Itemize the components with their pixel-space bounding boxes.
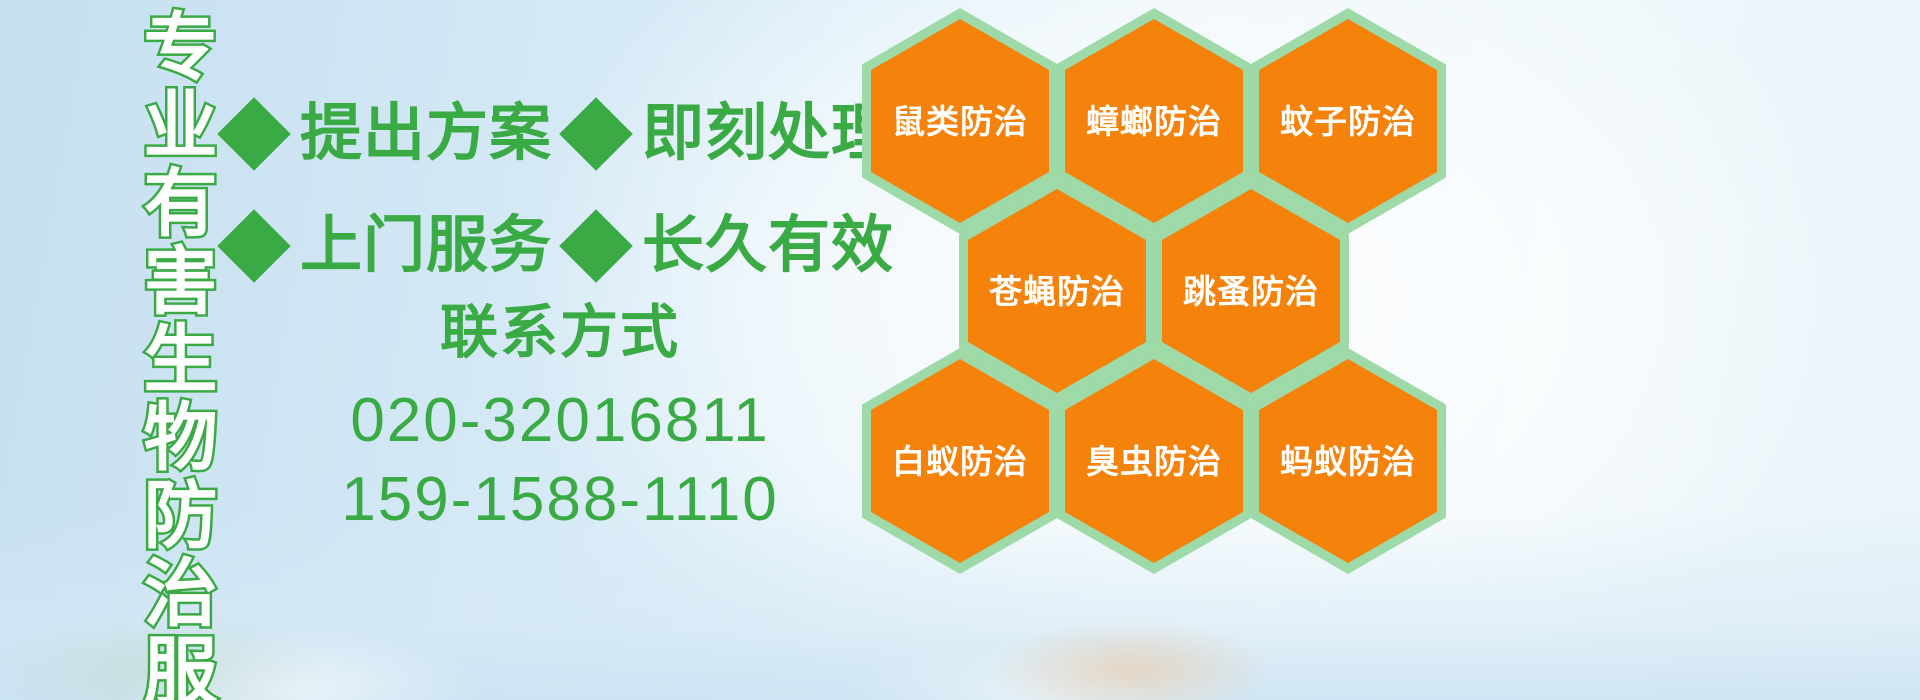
contact-heading: 联系方式 [300, 300, 820, 367]
service-hex-label: 苍蝇防治 [989, 275, 1125, 308]
background-blob-middle [980, 550, 1320, 700]
service-hex-label: 蚊子防治 [1280, 105, 1416, 138]
feature-item: 即刻处理 [570, 103, 894, 165]
service-hex-label: 鼠类防治 [892, 105, 1028, 138]
feature-label: 即刻处理 [642, 103, 894, 165]
feature-item: 上门服务 [228, 215, 552, 277]
diamond-bullet-icon [217, 209, 291, 283]
feature-label: 上门服务 [300, 215, 552, 277]
feature-list: 提出方案 即刻处理 上门服务 长久有效 [228, 78, 868, 302]
service-hex-label: 臭虫防治 [1086, 445, 1222, 478]
feature-label: 提出方案 [300, 103, 552, 165]
diamond-bullet-icon [559, 97, 633, 171]
feature-row: 上门服务 长久有效 [228, 190, 868, 302]
feature-item: 长久有效 [570, 215, 894, 277]
diamond-bullet-icon [559, 209, 633, 283]
diamond-bullet-icon [217, 97, 291, 171]
service-hex-label: 白蚁防治 [892, 445, 1028, 478]
service-hex-label: 跳蚤防治 [1183, 275, 1319, 308]
contact-block: 联系方式 020-32016811 159-1588-1110 [300, 300, 820, 539]
pest-control-banner: 专业有害生物防治服务 提出方案 即刻处理 上门服务 长久有效 联 [0, 0, 1920, 700]
vertical-headline: 专业有害生物防治服务 [108, 8, 212, 700]
feature-item: 提出方案 [228, 103, 552, 165]
feature-row: 提出方案 即刻处理 [228, 78, 868, 190]
contact-phone-landline[interactable]: 020-32016811 [300, 381, 820, 460]
service-honeycomb: 鼠类防治 蟑螂防治 蚊子防治 苍蝇防治 跳蚤防治 白蚁防治 臭虫防治 [858, 0, 1458, 560]
contact-phone-mobile[interactable]: 159-1588-1110 [300, 460, 820, 539]
service-hex-label: 蟑螂防治 [1086, 105, 1222, 138]
service-hex-label: 蚂蚁防治 [1280, 445, 1416, 478]
feature-label: 长久有效 [642, 215, 894, 277]
